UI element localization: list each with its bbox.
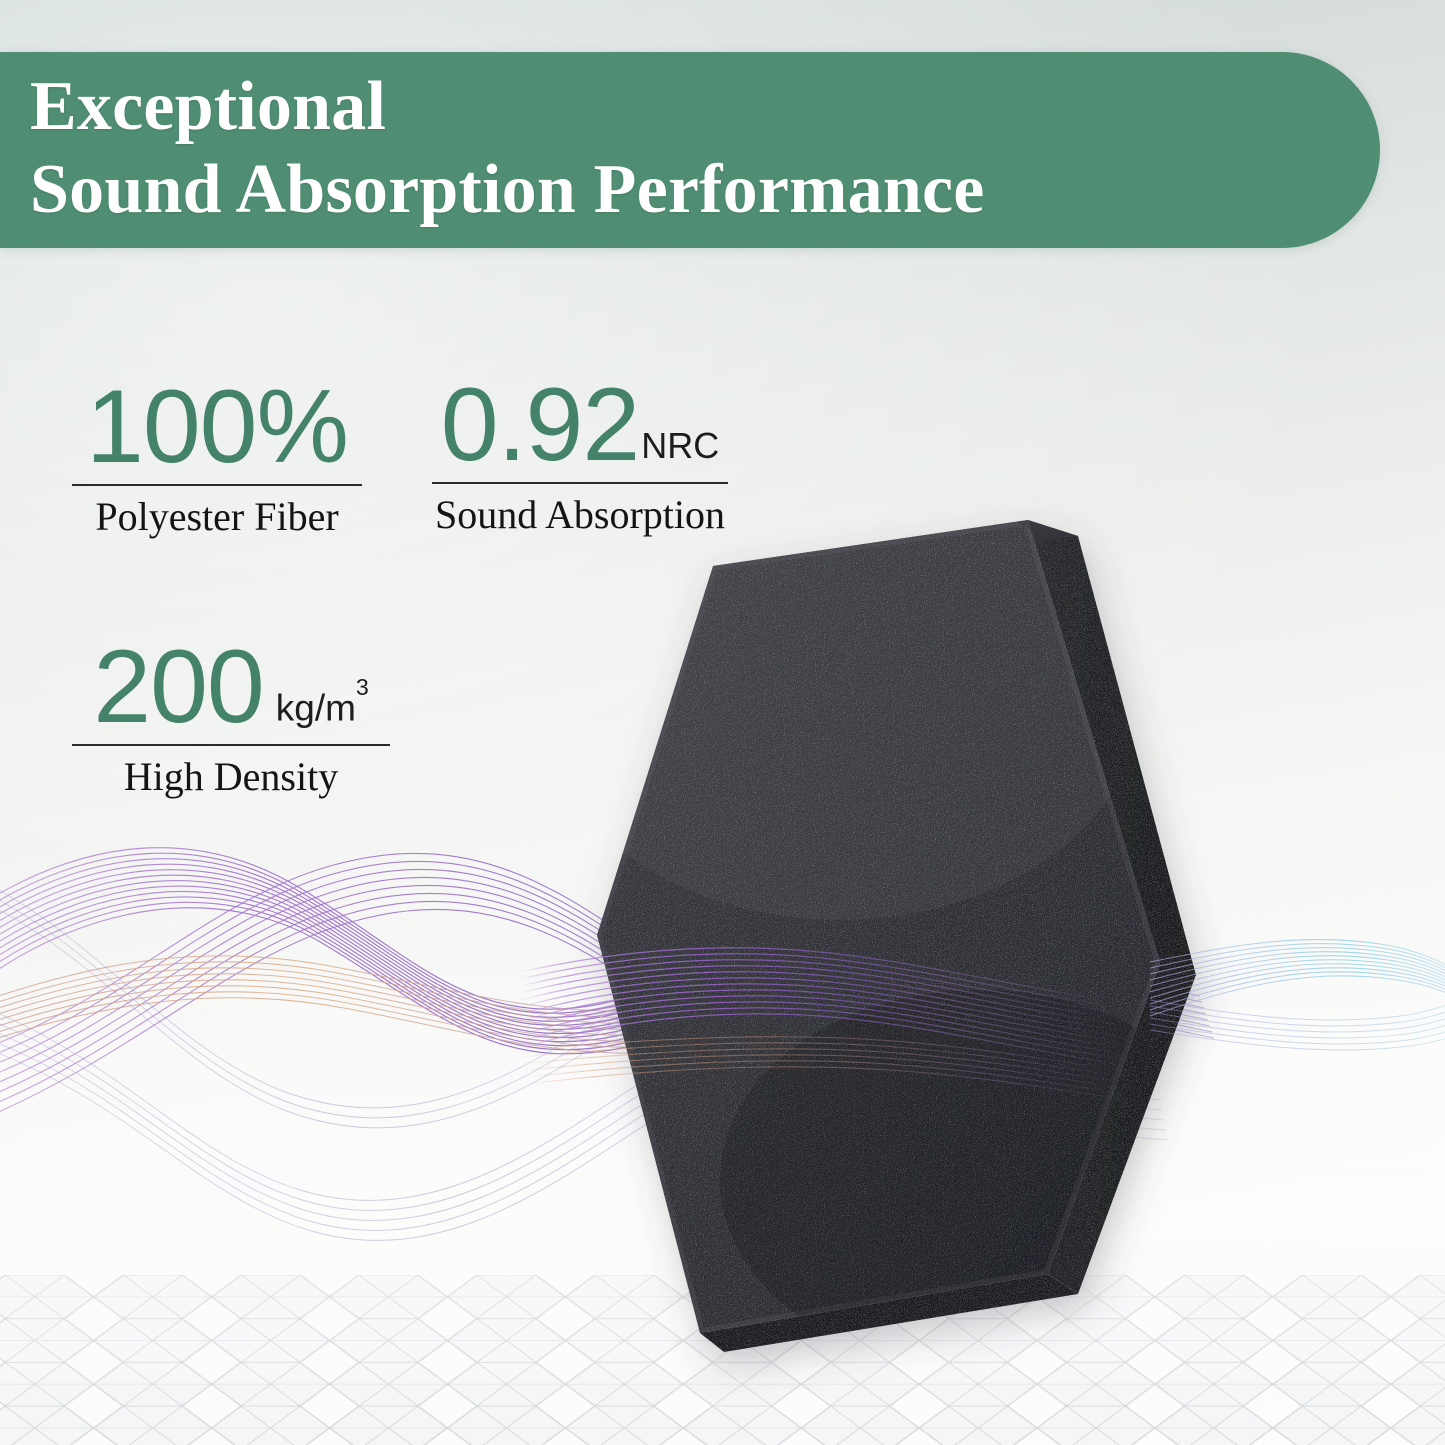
stat-unit: NRC	[641, 428, 719, 464]
stat-high-density: 200 kg/m3 High Density	[72, 638, 390, 802]
stat-value: 0.92	[441, 376, 639, 476]
page-title: Exceptional Sound Absorption Performance	[30, 66, 1350, 231]
product-infographic-canvas: Exceptional Sound Absorption Performance…	[0, 0, 1445, 1445]
header-banner: Exceptional Sound Absorption Performance	[0, 52, 1380, 248]
stat-label: High Density	[72, 752, 390, 802]
stat-nrc: 0.92 NRC Sound Absorption	[432, 376, 728, 540]
honeycomb-floor-pattern	[0, 925, 1445, 1445]
stat-value: 200	[93, 638, 264, 738]
stat-unit-superscript: 3	[356, 674, 369, 700]
stat-value-row: 200 kg/m3	[72, 638, 390, 738]
stat-unit-base: kg/m	[276, 687, 356, 728]
stat-polyester-fiber: 100% Polyester Fiber	[72, 378, 362, 542]
stat-label: Sound Absorption	[432, 490, 728, 540]
stat-value-row: 0.92 NRC	[432, 376, 728, 476]
stat-value-row: 100%	[72, 378, 362, 478]
stat-unit: kg/m3	[276, 688, 369, 726]
stat-value: 100%	[86, 378, 348, 478]
stat-label: Polyester Fiber	[72, 492, 362, 542]
